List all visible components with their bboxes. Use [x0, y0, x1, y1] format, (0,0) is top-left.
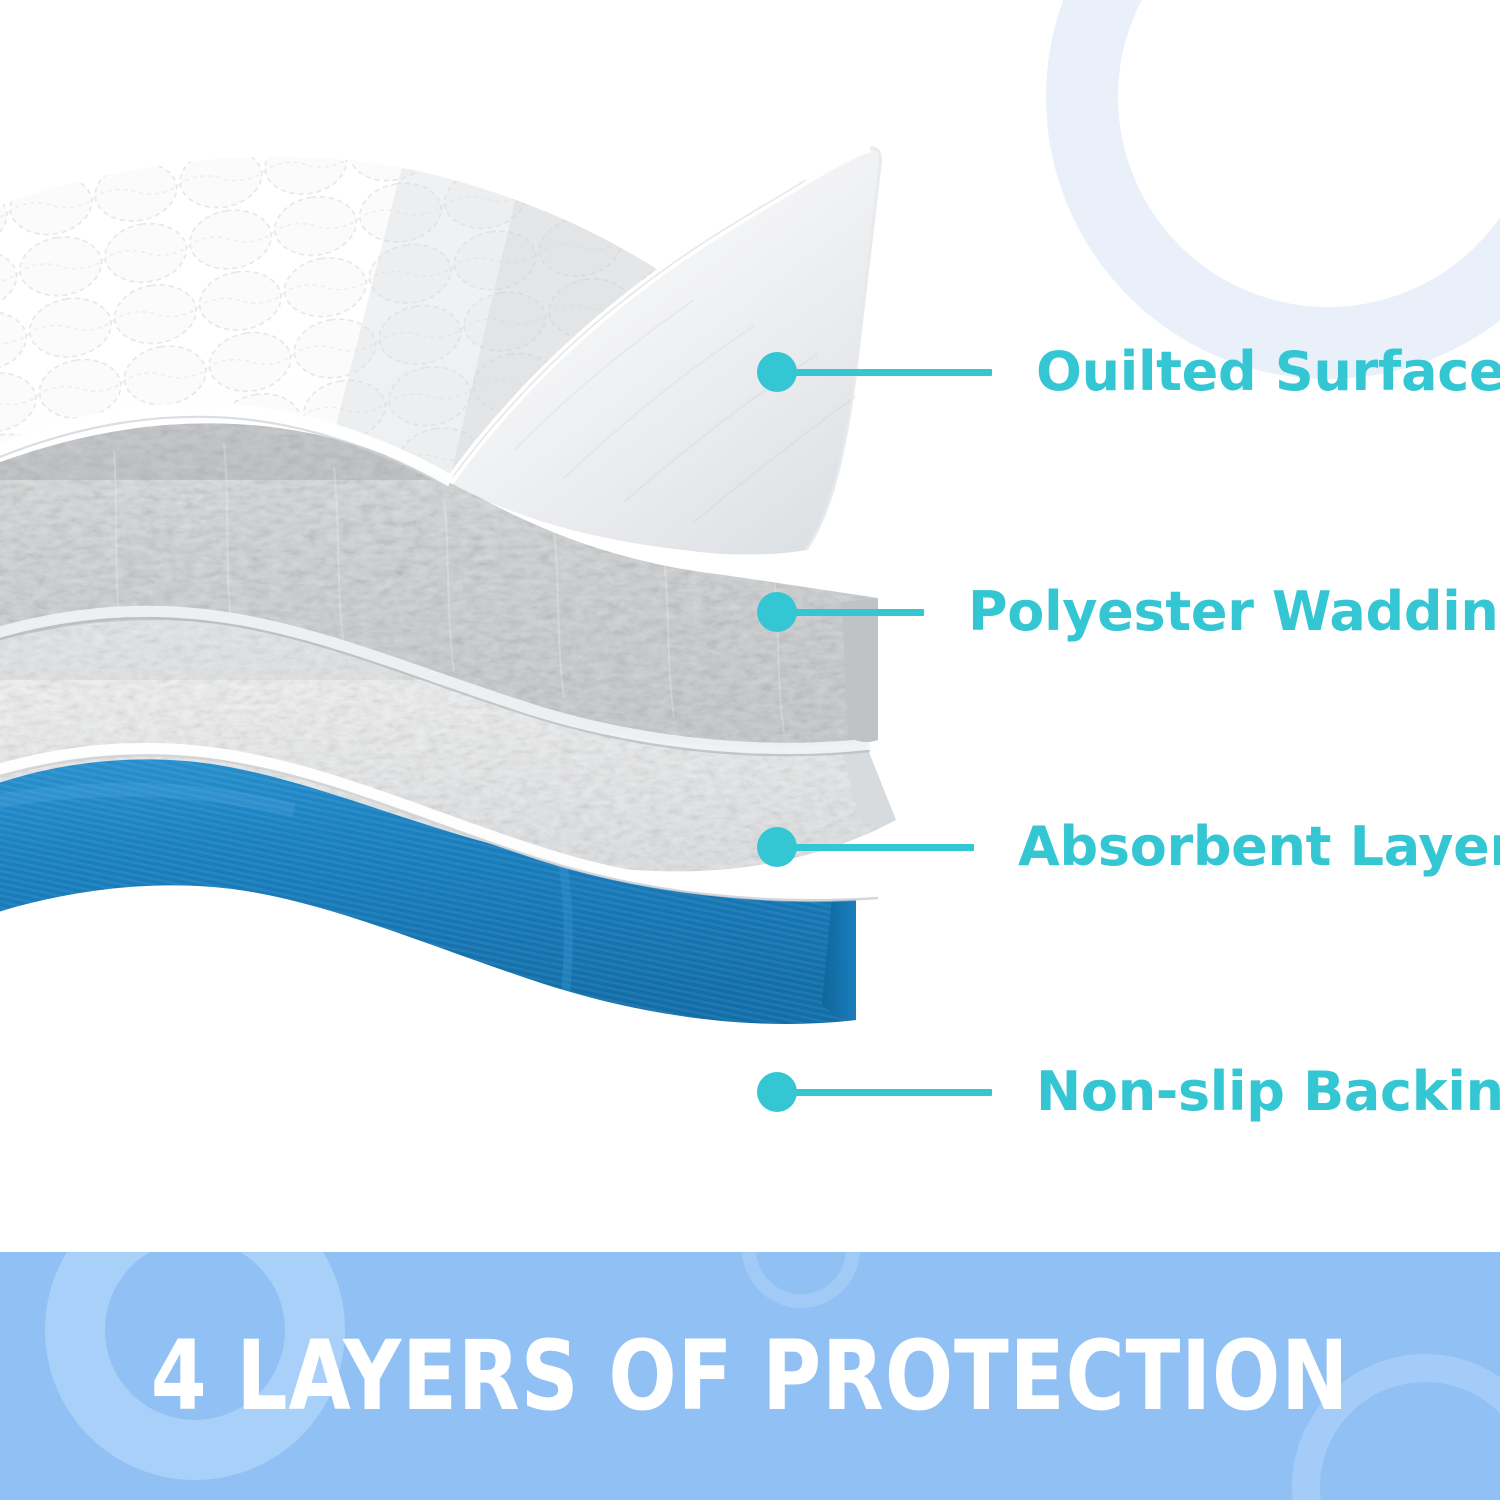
callout-non-slip-backing: Non-slip Backing: [757, 1060, 1500, 1124]
callout-dot-icon: [757, 352, 797, 392]
callout-label: Ouilted Surface: [1036, 345, 1500, 399]
callout-leader-line: [794, 1089, 992, 1096]
callout-dot-icon: [757, 1072, 797, 1112]
callout-leader-line: [794, 844, 974, 851]
callout-leader-line: [794, 369, 992, 376]
callout-label: Absorbent Layer: [1018, 820, 1500, 874]
callout-label: Polyester Wadding: [968, 585, 1500, 639]
layer-stack-svg: [0, 120, 954, 1210]
decorative-ring-top-right: [1046, 0, 1500, 379]
callout-label: Non-slip Backing: [1036, 1065, 1500, 1119]
callout-polyester-wadding: Polyester Wadding: [757, 580, 1500, 644]
infographic-canvas: Ouilted Surface Polyester Wadding Absorb…: [0, 0, 1500, 1500]
banner-headline: 4 LAYERS OF PROTECTION: [53, 1328, 1448, 1424]
callout-leader-line: [794, 609, 924, 616]
decorative-ring-banner-center: [742, 1252, 860, 1308]
callout-dot-icon: [757, 592, 797, 632]
callout-dot-icon: [757, 827, 797, 867]
callout-quilted-surface: Ouilted Surface: [757, 340, 1500, 404]
bottom-banner: 4 LAYERS OF PROTECTION: [0, 1252, 1500, 1500]
callout-absorbent-layer: Absorbent Layer: [757, 815, 1500, 879]
product-layer-illustration: [0, 120, 954, 1210]
